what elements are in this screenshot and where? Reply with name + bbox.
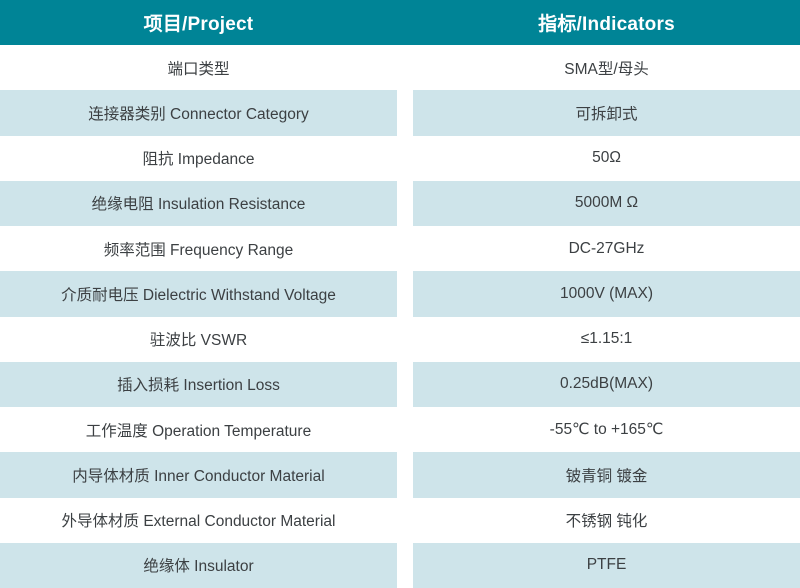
column-divider [397, 362, 413, 407]
cell-indicator: ≤1.15:1 [413, 317, 800, 362]
column-divider [397, 498, 413, 543]
column-divider [397, 226, 413, 271]
column-divider [397, 136, 413, 181]
column-divider [397, 271, 413, 316]
cell-project: 内导体材质 Inner Conductor Material [0, 452, 397, 497]
cell-project: 驻波比 VSWR [0, 317, 397, 362]
cell-project: 插入损耗 Insertion Loss [0, 362, 397, 407]
cell-indicator: 50Ω [413, 136, 800, 181]
table-row: 内导体材质 Inner Conductor Material 铍青铜 镀金 [0, 452, 800, 497]
specification-table: 项目/Project 指标/Indicators 端口类型 SMA型/母头 连接… [0, 0, 800, 588]
cell-project: 阻抗 Impedance [0, 136, 397, 181]
cell-project: 工作温度 Operation Temperature [0, 407, 397, 452]
column-divider [397, 317, 413, 362]
cell-indicator: PTFE [413, 543, 800, 588]
cell-project: 介质耐电压 Dielectric Withstand Voltage [0, 271, 397, 316]
column-divider [397, 452, 413, 497]
column-divider [397, 407, 413, 452]
column-divider [397, 181, 413, 226]
cell-indicator: 铍青铜 镀金 [413, 452, 800, 497]
column-header-indicator: 指标/Indicators [413, 0, 800, 45]
cell-indicator: 1000V (MAX) [413, 271, 800, 316]
column-divider [397, 0, 413, 45]
column-header-project: 项目/Project [0, 0, 397, 45]
cell-project: 绝缘体 Insulator [0, 543, 397, 588]
table-row: 介质耐电压 Dielectric Withstand Voltage 1000V… [0, 271, 800, 316]
table-row: 频率范围 Frequency Range DC-27GHz [0, 226, 800, 271]
cell-indicator: 不锈钢 钝化 [413, 498, 800, 543]
cell-indicator: 5000M Ω [413, 181, 800, 226]
table-row: 端口类型 SMA型/母头 [0, 45, 800, 90]
table-header-row: 项目/Project 指标/Indicators [0, 0, 800, 45]
cell-indicator: 可拆卸式 [413, 90, 800, 135]
column-divider [397, 90, 413, 135]
table-row: 驻波比 VSWR ≤1.15:1 [0, 317, 800, 362]
cell-project: 频率范围 Frequency Range [0, 226, 397, 271]
cell-indicator: SMA型/母头 [413, 45, 800, 90]
cell-indicator: -55℃ to +165℃ [413, 407, 800, 452]
column-divider [397, 543, 413, 588]
column-divider [397, 45, 413, 90]
table-row: 绝缘体 Insulator PTFE [0, 543, 800, 588]
table-row: 外导体材质 External Conductor Material 不锈钢 钝化 [0, 498, 800, 543]
table-row: 插入损耗 Insertion Loss 0.25dB(MAX) [0, 362, 800, 407]
table-row: 阻抗 Impedance 50Ω [0, 136, 800, 181]
cell-project: 连接器类别 Connector Category [0, 90, 397, 135]
table-row: 工作温度 Operation Temperature -55℃ to +165℃ [0, 407, 800, 452]
table-row: 绝缘电阻 Insulation Resistance 5000M Ω [0, 181, 800, 226]
cell-project: 绝缘电阻 Insulation Resistance [0, 181, 397, 226]
table-row: 连接器类别 Connector Category 可拆卸式 [0, 90, 800, 135]
cell-indicator: 0.25dB(MAX) [413, 362, 800, 407]
cell-project: 端口类型 [0, 45, 397, 90]
cell-indicator: DC-27GHz [413, 226, 800, 271]
cell-project: 外导体材质 External Conductor Material [0, 498, 397, 543]
